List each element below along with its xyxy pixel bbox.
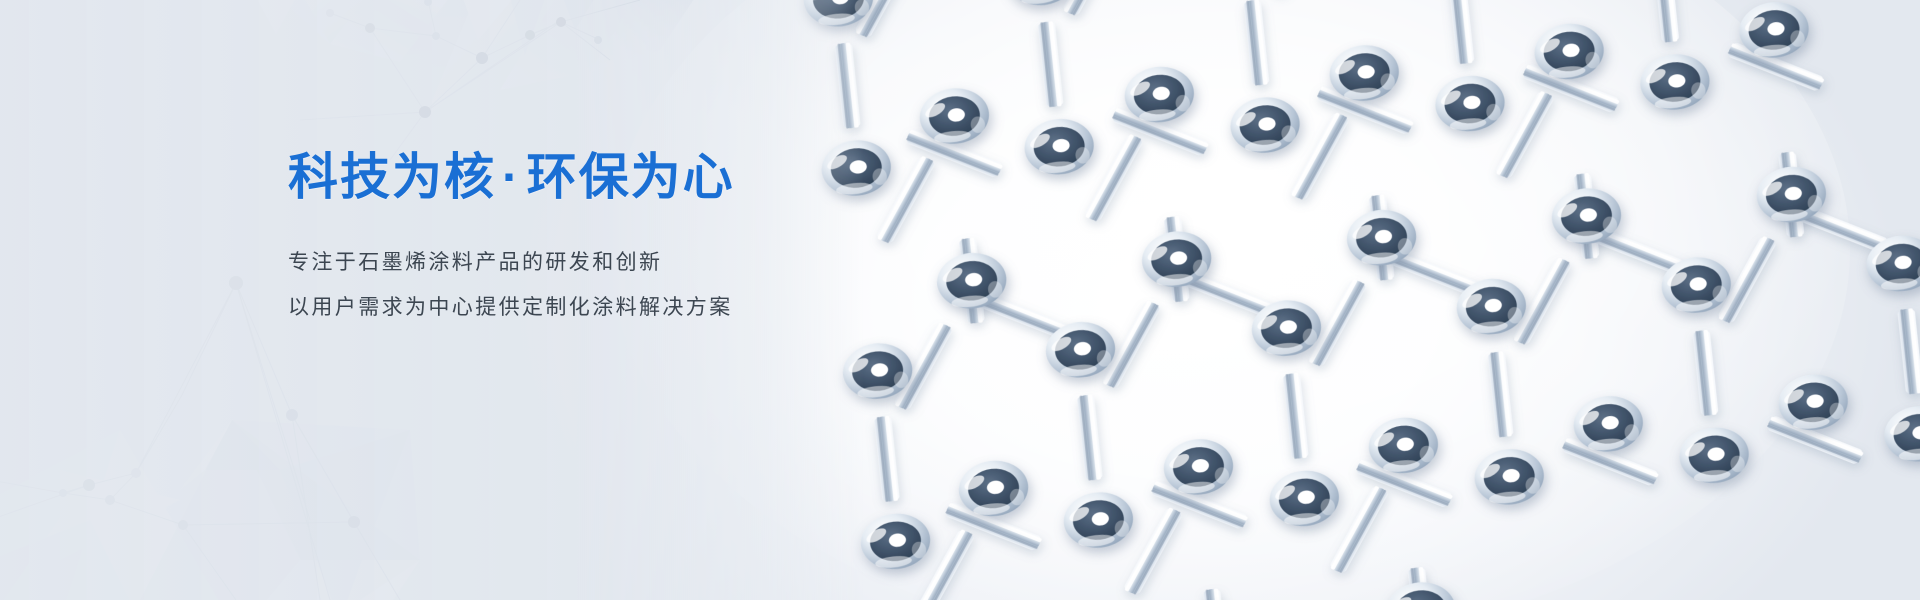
hero-text-block: 科技为核·环保为心 专注于石墨烯涂料产品的研发和创新 以用户需求为中心提供定制化… — [288, 148, 1048, 330]
subtitle-line-2: 以用户需求为中心提供定制化涂料解决方案 — [288, 286, 1048, 331]
hero-subtitle: 专注于石墨烯涂料产品的研发和创新 以用户需求为中心提供定制化涂料解决方案 — [288, 241, 1048, 330]
headline-separator: · — [496, 149, 527, 205]
subtitle-line-1: 专注于石墨烯涂料产品的研发和创新 — [288, 241, 1048, 286]
hero-banner: 科技为核·环保为心 专注于石墨烯涂料产品的研发和创新 以用户需求为中心提供定制化… — [0, 0, 1920, 600]
headline-part-2: 环保为心 — [527, 149, 735, 205]
page-title: 科技为核·环保为心 — [288, 148, 1048, 207]
headline-part-1: 科技为核 — [288, 149, 496, 205]
